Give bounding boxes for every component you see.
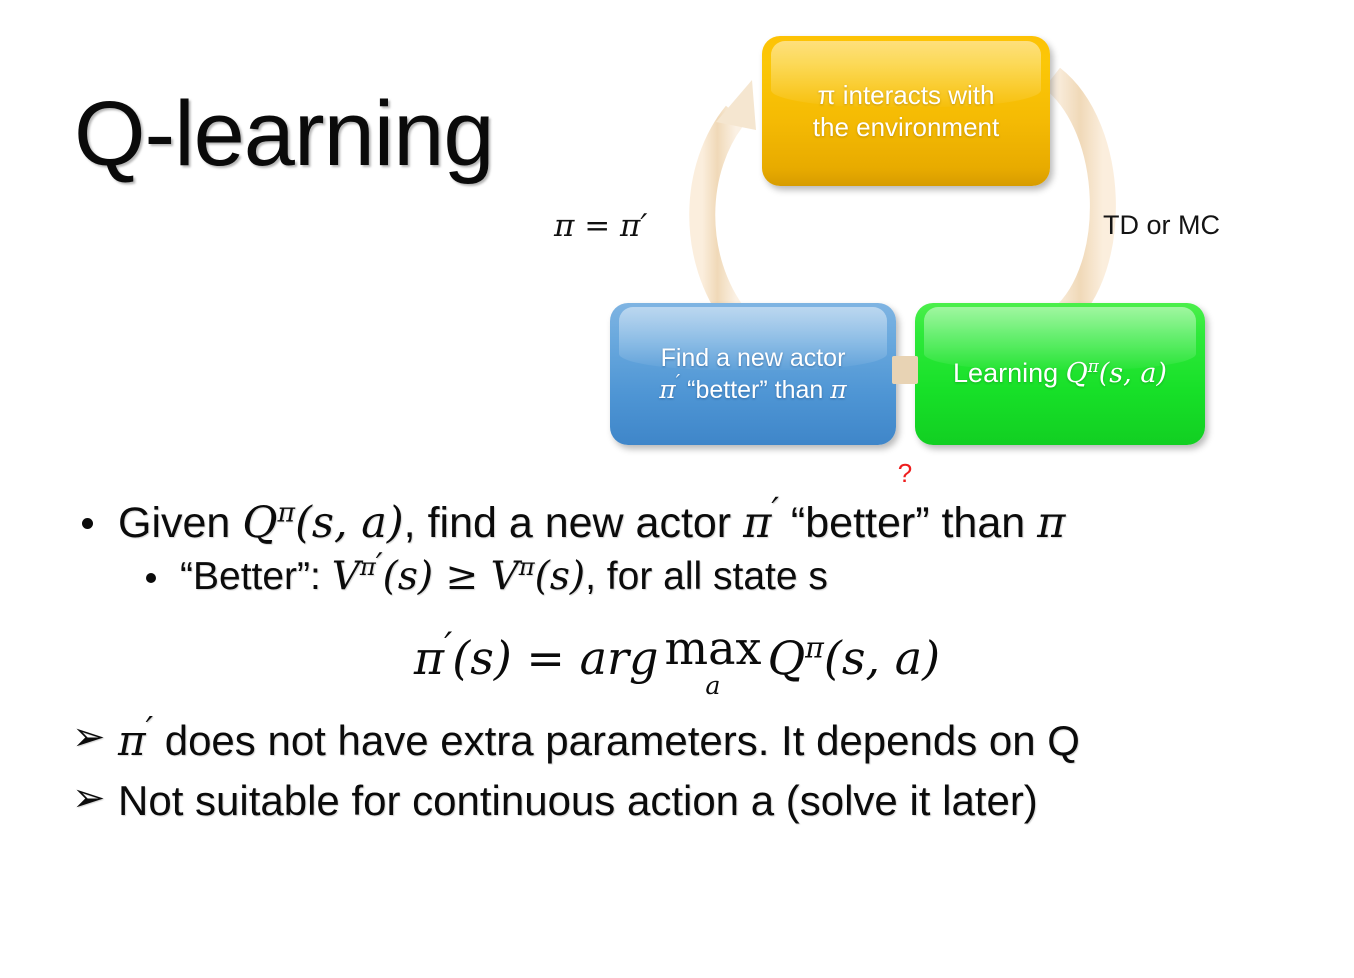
q-symbol: Q — [1066, 358, 1088, 389]
arrow-bullet-no-extra-params: ➢π′ does not have extra parameters. It d… — [0, 716, 1354, 765]
bullet1-mid: , find a new actor — [404, 499, 743, 547]
v-symbol-2: V — [491, 554, 519, 599]
bullet1-post: “better” than — [779, 499, 1037, 547]
relation-geq: ≥ — [433, 554, 490, 599]
q-superscript-pi: π — [278, 498, 296, 529]
bullet1-pre: Given — [118, 499, 242, 547]
diagram-box-learning-q[interactable]: Learning Qπ(s, a) — [915, 303, 1205, 445]
bullet2-pre: “Better”: — [180, 555, 332, 598]
q-symbol: Q — [242, 498, 277, 548]
pi-prime-symbol: π — [659, 375, 675, 404]
box-find-actor-text: Find a new actor π′ “better” than π — [659, 342, 846, 407]
arrow-bullet-continuous-action: ➢Not suitable for continuous action a (s… — [0, 777, 1354, 825]
slide-body: Given Qπ(s, a), find a new actor π′ “bet… — [0, 498, 1354, 837]
v2-arguments: (s) — [535, 554, 585, 599]
box-learning-line1: Learning Qπ(s, a) — [953, 356, 1167, 391]
pi-symbol: π — [830, 375, 846, 404]
eq-lhs-args: (s) — [452, 631, 512, 685]
box-learning-text: Learning Qπ(s, a) — [953, 356, 1167, 391]
label-td-or-mc: TD or MC — [1103, 210, 1220, 241]
eq-max-operator: maxa — [664, 625, 761, 698]
label-policy-update: π = π′ — [554, 208, 647, 244]
eq-q-arguments: (s, a) — [824, 631, 940, 685]
learning-label: Learning — [953, 358, 1066, 388]
pi-prime-symbol: π — [743, 498, 771, 548]
q-arguments: (s, a) — [1099, 358, 1167, 389]
question-mark-annotation: ? — [892, 458, 918, 489]
policy-iteration-diagram: π interacts with the environment Find a … — [540, 18, 1260, 488]
q-superscript-pi: π — [1088, 356, 1099, 376]
bullet2-post: , for all state s — [585, 555, 828, 598]
box-find-actor-line2-rest: “better” than — [680, 376, 830, 404]
arc-left-arrowhead — [716, 80, 756, 130]
bullet-given-q: Given Qπ(s, a), find a new actor π′ “bet… — [0, 498, 1354, 548]
page-title: Q-learning — [74, 88, 494, 180]
box-environment-line1: π interacts with — [813, 79, 999, 112]
bullet-dot-icon — [82, 518, 93, 529]
eq-arg-operator: arg — [580, 631, 659, 685]
eq-equals: = — [512, 631, 580, 685]
prime-mark: ′ — [376, 548, 383, 583]
q-arguments: (s, a) — [295, 498, 404, 548]
connector-blue-green — [892, 356, 918, 384]
pi-symbol: π — [1037, 498, 1065, 548]
eq-q-superscript-pi: π — [805, 631, 824, 664]
arrow-bullet-icon: ➢ — [72, 775, 106, 821]
max-label: max — [664, 625, 761, 671]
arrow-bullet-icon: ➢ — [72, 714, 106, 760]
v1-superscript-pi: π — [360, 553, 376, 581]
pi-prime-symbol: π — [118, 716, 146, 765]
eq-q-symbol: Q — [767, 631, 805, 685]
arc-right — [1052, 78, 1103, 318]
equation-greedy-policy: π′(s) = argmaxaQπ(s, a) — [0, 625, 1354, 698]
bullet-better-definition: “Better”: Vπ′(s) ≥ Vπ(s), for all state … — [0, 554, 1354, 599]
arrow1-text: does not have extra parameters. It depen… — [153, 717, 1080, 764]
box-environment-text: π interacts with the environment — [813, 79, 999, 144]
prime-mark: ′ — [146, 710, 153, 748]
eq-pi-prime: π — [414, 631, 444, 685]
max-subscript-a: a — [705, 673, 720, 698]
box-environment-line2: the environment — [813, 111, 999, 144]
bullet-dot-icon — [146, 573, 156, 583]
v1-arguments: (s) — [383, 554, 433, 599]
slide-canvas: Q-learning — [0, 0, 1354, 978]
diagram-box-find-actor[interactable]: Find a new actor π′ “better” than π — [610, 303, 896, 445]
diagram-box-environment[interactable]: π interacts with the environment — [762, 36, 1050, 186]
v-symbol-1: V — [332, 554, 360, 599]
arrow2-text: Not suitable for continuous action a (so… — [118, 777, 1038, 824]
v2-superscript-pi: π — [519, 553, 535, 581]
prime-mark: ′ — [771, 491, 779, 530]
box-find-actor-line2: π′ “better” than π — [659, 374, 846, 407]
arc-left — [702, 114, 736, 318]
box-find-actor-line1: Find a new actor — [659, 342, 846, 375]
